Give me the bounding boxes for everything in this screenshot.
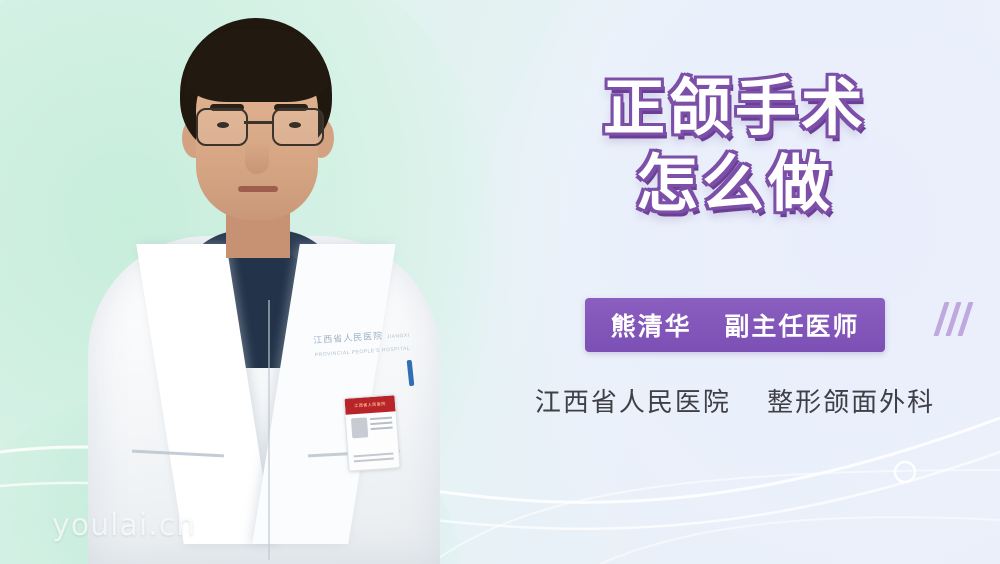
site-watermark: youlai.cn <box>52 508 196 543</box>
speaker-role: 副主任医师 <box>724 312 859 341</box>
speaker-name: 熊清华 <box>611 312 692 341</box>
eyeglass-lens-right <box>272 108 324 146</box>
staff-id-badge-lines <box>370 417 393 433</box>
staff-id-badge-header: 江西省人民医院 <box>345 395 396 414</box>
nose <box>245 140 269 174</box>
staff-id-badge-photo <box>351 417 368 438</box>
hair-fringe <box>186 30 328 102</box>
mouth <box>238 186 278 192</box>
staff-id-badge-footer-lines <box>354 453 395 466</box>
video-title-line-2: 怎么做 <box>500 146 970 222</box>
speaker-hospital: 江西省人民医院 <box>535 388 731 418</box>
eyeglass-bridge <box>244 121 272 124</box>
eyeglasses <box>196 108 320 144</box>
speaker-affiliation: 江西省人民医院 整形颌面外科 <box>500 382 970 419</box>
eyeglass-lens-left <box>196 108 248 146</box>
video-title-line-1: 正颌手术 <box>603 71 867 144</box>
coat-center-seam <box>268 300 270 560</box>
decorative-slashes-icon <box>939 302 968 336</box>
video-thumbnail: 江西省人民医院 JIANGXI PROVINCIAL PEOPLE'S HOSP… <box>0 0 1000 564</box>
speaker-name-bar: 熊清华 副主任医师 <box>585 298 886 352</box>
text-panel: 正颌手术 怎么做 熊清华 副主任医师 江西省人民医院 整形颌面外科 <box>500 0 1000 564</box>
doctor-portrait: 江西省人民医院 JIANGXI PROVINCIAL PEOPLE'S HOSP… <box>40 0 470 564</box>
video-title: 正颌手术 怎么做 <box>500 70 970 222</box>
speaker-department: 整形颌面外科 <box>767 388 935 418</box>
staff-id-badge: 江西省人民医院 <box>343 394 400 471</box>
speaker-banner: 熊清华 副主任医师 <box>500 298 970 352</box>
